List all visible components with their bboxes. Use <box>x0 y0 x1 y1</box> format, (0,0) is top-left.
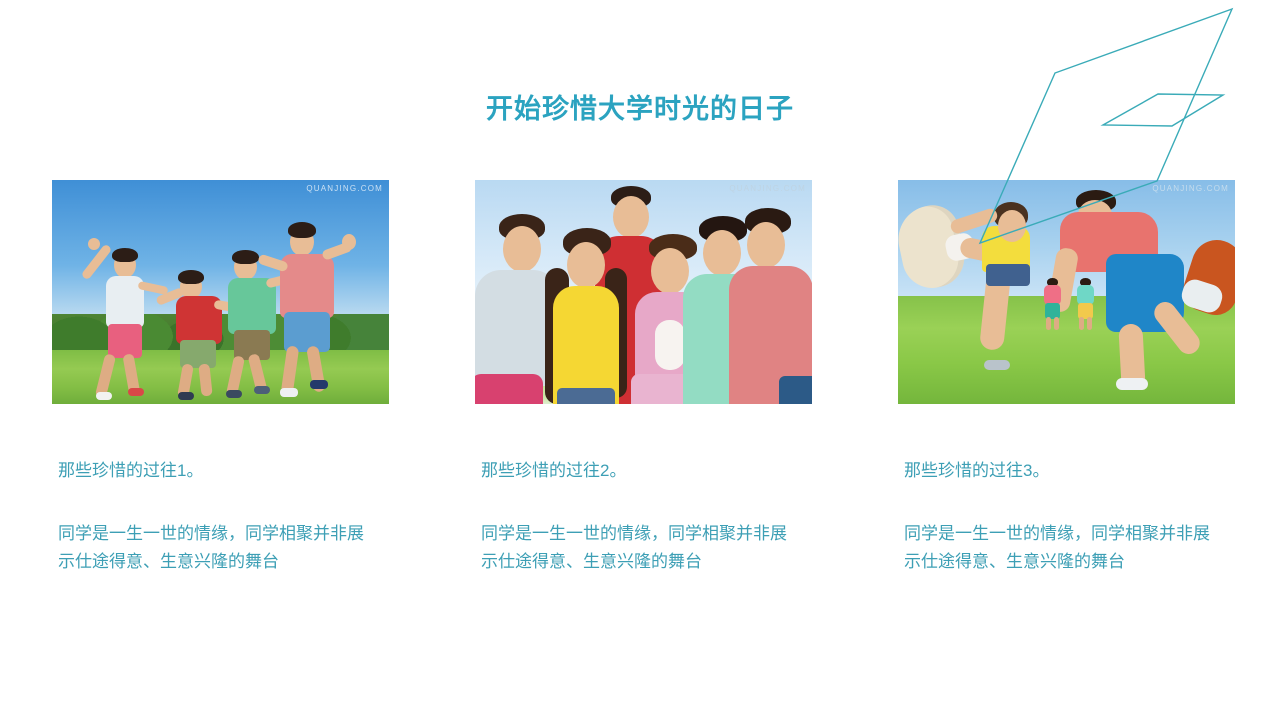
content-column-1: QUANJING.COM 那些珍惜的过往1。 同学是一生一世的情缘，同学相聚并非… <box>52 180 389 404</box>
caption-body: 同学是一生一世的情缘，同学相聚并非展示仕途得意、生意兴隆的舞台 <box>904 520 1226 575</box>
image-watermark: QUANJING.COM <box>306 184 383 193</box>
content-column-2: QUANJING.COM 那些珍惜的过往2。 同学是一生一世的情缘，同学相聚并非… <box>475 180 812 404</box>
person-right-salmon-polo <box>731 208 812 404</box>
image-watermark: QUANJING.COM <box>729 184 806 193</box>
person-yellow-tank <box>541 228 637 404</box>
content-column-3: QUANJING.COM 那些珍惜的过往3。 同学是一生一世的情缘，同学相聚并非… <box>898 180 1235 404</box>
caption-body: 同学是一生一世的情缘，同学相聚并非展示仕途得意、生意兴隆的舞台 <box>481 520 803 575</box>
caption-heading: 那些珍惜的过往1。 <box>58 458 388 484</box>
person-distant-teal <box>1074 278 1096 330</box>
page-title: 开始珍惜大学时光的日子 <box>0 93 1280 125</box>
caption-heading: 那些珍惜的过往3。 <box>904 458 1234 484</box>
photo-four-young-men-jumping-on-grass: QUANJING.COM <box>52 180 389 404</box>
person-yellow-tank-kicking <box>898 192 1048 392</box>
photo-low-angle-friends-running-on-lawn: QUANJING.COM <box>898 180 1235 404</box>
content-columns: QUANJING.COM 那些珍惜的过往1。 同学是一生一世的情缘，同学相聚并非… <box>52 180 1232 620</box>
person-white-shirt <box>96 238 152 398</box>
person-salmon-polo <box>266 212 356 394</box>
person-distant-pink <box>1041 278 1063 330</box>
caption-heading: 那些珍惜的过往2。 <box>481 458 811 484</box>
image-watermark: QUANJING.COM <box>1152 184 1229 193</box>
caption-body: 同学是一生一世的情缘，同学相聚并非展示仕途得意、生意兴隆的舞台 <box>58 520 380 575</box>
slide-canvas: 开始珍惜大学时光的日子 <box>0 0 1280 720</box>
photo-group-of-six-smiling-friends: QUANJING.COM <box>475 180 812 404</box>
